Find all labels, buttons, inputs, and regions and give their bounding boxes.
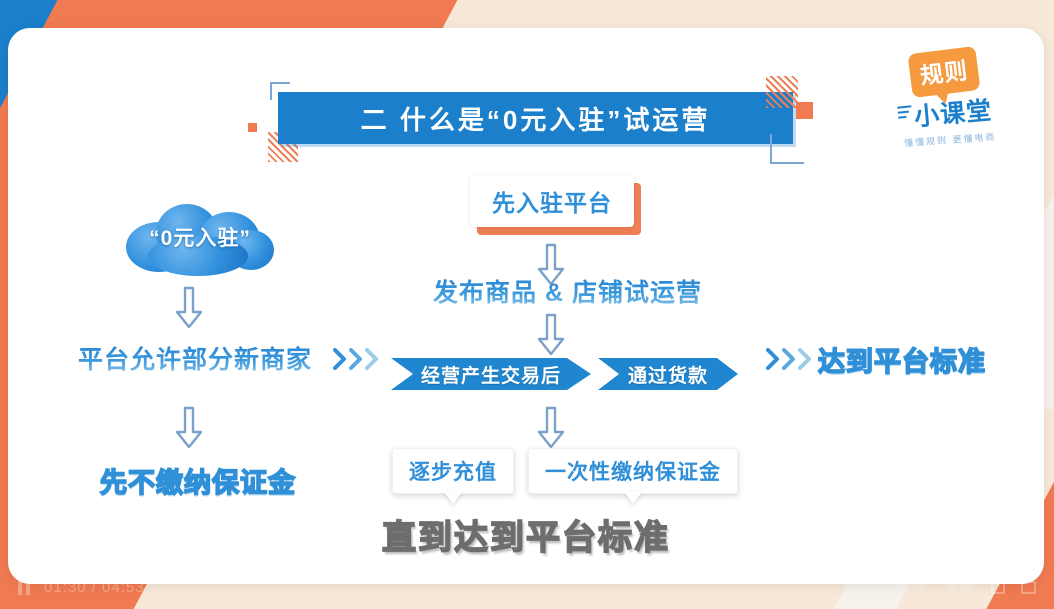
center-bubble-2-label: 一次性缴纳保证金 [545,461,721,484]
theater-icon[interactable] [991,580,1005,594]
page-title: 二 什么是“0元入驻”试运营 [361,100,711,137]
logo-bars-icon [897,105,912,121]
bubble-tip [444,492,462,504]
arrow-down-icon-left-1 [174,286,204,330]
decor-hatch-right [766,76,798,108]
video-slide-stage: 二 什么是“0元入驻”试运营 规则 小课堂 懂懂规则 更懂电商 “0元入驻” [0,0,1054,609]
center-step-1-label: 先入驻平台 [492,190,612,216]
cloud-label: “0元入驻” [120,222,280,252]
quality-button[interactable]: 清晰 [943,577,975,598]
arrow-down-icon-center-2 [536,313,566,357]
slide-card: 二 什么是“0元入驻”试运营 规则 小课堂 懂懂规则 更懂电商 “0元入驻” [8,28,1044,584]
logo-line2: 小课堂 [913,91,994,134]
logo-line1: 规则 [908,46,981,98]
chevron-right-icon-right [766,348,812,370]
left-step-1: 平台允许部分新商家 [78,340,312,376]
center-bubble-1: 逐步充值 [392,448,514,494]
controls-right-group: 倍速 清晰 [895,577,1036,598]
left-step-2-label: 先不缴纳保证金 [100,468,296,498]
decor-square-orange-left [248,123,257,132]
decor-square-orange-right [796,102,813,119]
bubble-tip [624,492,642,504]
decor-line-horizontal-right [770,162,804,164]
center-step-2-label: 发布商品 & 店铺试运营 [433,279,702,307]
fullscreen-icon[interactable] [1021,581,1036,594]
pause-icon[interactable] [18,580,30,595]
title-bar: 二 什么是“0元入驻”试运营 [278,92,793,144]
title-block: 二 什么是“0元入驻”试运营 [248,76,828,168]
cloud-badge: “0元入驻” [120,196,280,278]
left-step-2: 先不缴纳保证金 [100,461,296,500]
decor-line-vertical-right [770,134,772,164]
card-face: 先入驻平台 [470,175,634,227]
speed-button[interactable]: 倍速 [895,577,927,598]
bubble-box: 一次性缴纳保证金 [528,448,738,494]
bubble-box: 逐步充值 [392,448,514,494]
center-bubble-2: 一次性缴纳保证金 [528,448,738,494]
chevron-right-icon-left [333,348,379,370]
left-step-1-label: 平台允许部分新商家 [78,346,312,374]
center-step-2: 发布商品 & 店铺试运营 [433,273,702,309]
right-result: 达到平台标准 [818,340,986,379]
center-banner-1: 经营产生交易后 [391,358,591,390]
center-banner-2-label: 通过货款 [598,361,738,388]
center-banner-1-label: 经营产生交易后 [391,361,591,388]
video-controls[interactable]: 01:30 / 04:53 倍速 清晰 [0,565,1054,609]
logo: 规则 小课堂 懂懂规则 更懂电商 [892,44,1022,164]
time-display: 01:30 / 04:53 [44,579,145,596]
center-banner-2: 通过货款 [598,358,738,390]
center-step-1-card: 先入驻平台 [470,175,634,227]
center-bubble-1-label: 逐步充值 [409,461,497,484]
arrow-down-icon-left-2 [174,406,204,450]
right-result-label: 达到平台标准 [818,347,986,377]
bottom-caption-label: 直到达到平台标准 [382,519,670,557]
arrow-down-icon-center-3 [536,406,566,450]
bottom-caption: 直到达到平台标准 [8,510,1044,559]
